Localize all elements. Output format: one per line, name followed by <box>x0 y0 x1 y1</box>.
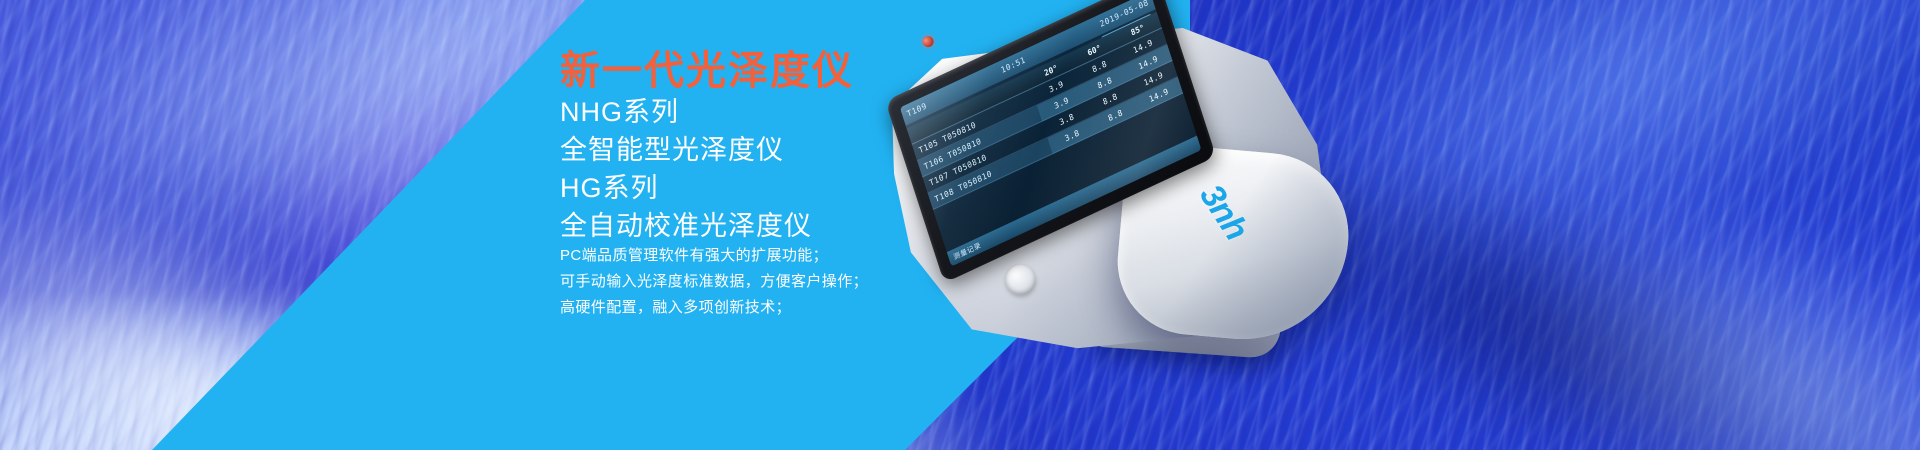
subtitle-line-1: NHG系列 <box>560 93 679 131</box>
product-banner: 新一代光泽度仪 NHG系列 全智能型光泽度仪 HG系列 全自动校准光泽度仪 PC… <box>0 0 1920 450</box>
gloss-meter-device: 3nh T109 10:51 2019-05-08 基本测量模式 T105 T0… <box>863 0 1376 430</box>
angle-header-20: 20° <box>1043 63 1059 78</box>
power-led-icon <box>921 34 936 49</box>
feature-line-2: 可手动输入光泽度标准数据，方便客户操作； <box>560 269 868 295</box>
angle-header-60: 60° <box>1086 43 1102 58</box>
row-id: T108 <box>933 186 955 203</box>
subtitle-line-4: 全自动校准光泽度仪 <box>560 207 812 245</box>
lcd-time: 10:51 <box>1000 55 1027 75</box>
subtitle-line-2: 全智能型光泽度仪 <box>560 131 784 169</box>
headline: 新一代光泽度仪 <box>560 48 854 94</box>
lcd-title: T109 <box>906 101 928 119</box>
feature-line-1: PC端品质管理软件有强大的扩展功能； <box>560 243 828 269</box>
angle-header-85: 85° <box>1130 22 1146 37</box>
feature-line-3: 高硬件配置，融入多项创新技术； <box>560 295 791 321</box>
subtitle-line-3: HG系列 <box>560 169 659 207</box>
